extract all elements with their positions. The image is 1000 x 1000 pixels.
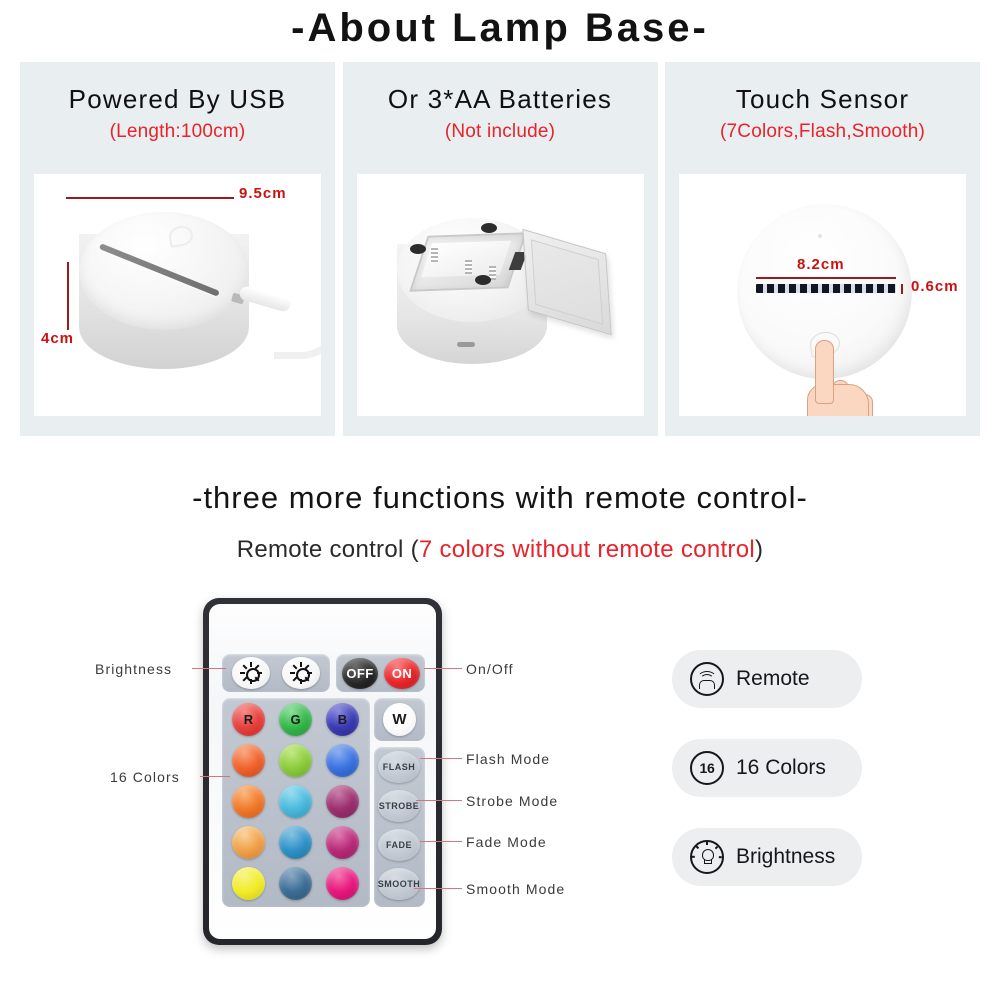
lamp-base-usb-illustration: 9.5cm 4cm — [34, 174, 321, 416]
color-button-r3c2[interactable] — [279, 785, 312, 818]
panel-3-title: Touch Sensor — [665, 84, 980, 115]
brightness-up-button[interactable] — [232, 657, 270, 689]
sixteen-badge-icon: 16 — [690, 751, 724, 785]
usb-port — [457, 342, 475, 347]
slot-width-line — [756, 277, 896, 279]
color-button-label: R — [244, 712, 253, 727]
leader-line-16-colors — [200, 776, 230, 777]
lamp-base-battery-illustration — [357, 174, 644, 416]
flash-mode-button[interactable]: FLASH — [378, 751, 420, 783]
fade-mode-button[interactable]: FADE — [378, 829, 420, 861]
remote-face: OFF ON W R G B — [209, 604, 436, 939]
color-button-white[interactable]: W — [383, 703, 416, 736]
color-button-r5c3[interactable] — [326, 867, 359, 900]
sun-icon — [241, 663, 261, 683]
annotation-flash-mode: Flash Mode — [466, 751, 550, 767]
color-button-r3c1[interactable] — [232, 785, 265, 818]
width-dimension-line — [66, 197, 234, 199]
height-dimension-line — [67, 262, 69, 330]
color-button-blue[interactable]: B — [326, 703, 359, 736]
panel-1-header: Powered By USB (Length:100cm) — [20, 84, 335, 143]
panel-3-header: Touch Sensor (7Colors,Flash,Smooth) — [665, 84, 980, 143]
panel-3-subtitle: (7Colors,Flash,Smooth) — [665, 121, 980, 143]
panel-touch-sensor: Touch Sensor (7Colors,Flash,Smooth) 8.2c… — [665, 62, 980, 436]
color-button-r2c2[interactable] — [279, 744, 312, 777]
battery-spring — [465, 260, 472, 274]
color-button-r4c2[interactable] — [279, 826, 312, 859]
color-button-r4c3[interactable] — [326, 826, 359, 859]
bulb-icon — [690, 840, 724, 874]
panel-1-title: Powered By USB — [20, 84, 335, 115]
section-2-subtitle-plain: Remote control ( — [237, 536, 419, 563]
color-button-green[interactable]: G — [279, 703, 312, 736]
panel-2-image — [357, 174, 644, 416]
annotation-16-colors: 16 Colors — [110, 769, 180, 785]
panel-1-image: 9.5cm 4cm — [34, 174, 321, 416]
leader-line-smooth-mode — [414, 888, 462, 889]
lamp-base-touch-illustration: 8.2cm 0.6cm — [679, 174, 966, 416]
feature-pill-brightness-label: Brightness — [736, 845, 835, 869]
feature-pill-remote[interactable]: Remote — [672, 650, 862, 708]
slot-thickness-tick — [901, 284, 903, 294]
panel-powered-by-usb: Powered By USB (Length:100cm) 9.5cm 4cm — [20, 62, 335, 436]
slot-width-label: 8.2cm — [797, 256, 845, 273]
feature-pill-list: Remote 16 16 Colors Brightness — [672, 650, 862, 917]
color-button-r5c2[interactable] — [279, 867, 312, 900]
smooth-mode-button[interactable]: SMOOTH — [378, 868, 420, 900]
color-button-r4c1[interactable] — [232, 826, 265, 859]
feature-pill-16-colors-label: 16 Colors — [736, 756, 826, 780]
leader-line-flash-mode — [420, 758, 462, 759]
slot-thickness-label: 0.6cm — [911, 278, 959, 295]
color-button-r3c3[interactable] — [326, 785, 359, 818]
annotation-brightness: Brightness — [95, 661, 172, 677]
strobe-mode-button[interactable]: STROBE — [378, 790, 420, 822]
leader-line-on-off — [424, 668, 462, 669]
feature-pill-brightness[interactable]: Brightness — [672, 828, 862, 886]
panel-2-header: Or 3*AA Batteries (Not include) — [343, 84, 658, 143]
leader-line-strobe-mode — [416, 800, 462, 801]
color-button-label: B — [338, 712, 347, 727]
fade-mode-label: FADE — [386, 840, 412, 850]
color-button-r2c1[interactable] — [232, 744, 265, 777]
panel-2-title: Or 3*AA Batteries — [343, 84, 658, 115]
section-2-subtitle: Remote control (7 colors without remote … — [0, 536, 1000, 564]
panel-aa-batteries: Or 3*AA Batteries (Not include) — [343, 62, 658, 436]
pointing-hand-illustration — [807, 340, 871, 416]
remote-control[interactable]: OFF ON W R G B — [203, 598, 442, 945]
panel-2-subtitle: (Not include) — [343, 121, 658, 143]
power-on-button[interactable]: ON — [384, 658, 420, 689]
leader-line-brightness — [192, 668, 226, 669]
annotation-on-off: On/Off — [466, 661, 514, 677]
white-button-label: W — [392, 711, 406, 728]
feature-pill-remote-label: Remote — [736, 667, 810, 691]
color-button-r5c1[interactable] — [232, 867, 265, 900]
strobe-mode-label: STROBE — [379, 801, 420, 811]
annotation-smooth-mode: Smooth Mode — [466, 881, 565, 897]
surface-marker — [818, 234, 822, 238]
index-finger — [815, 340, 834, 404]
product-infographic: -About Lamp Base- Powered By USB (Length… — [0, 0, 1000, 1000]
panel-row: Powered By USB (Length:100cm) 9.5cm 4cm — [20, 62, 980, 436]
color-button-r2c3[interactable] — [326, 744, 359, 777]
rubber-foot — [481, 223, 497, 233]
rubber-foot — [410, 244, 426, 254]
section-2-subtitle-highlight: 7 colors without remote control — [419, 536, 755, 563]
sun-icon — [291, 663, 311, 683]
section-2-title: -three more functions with remote contro… — [0, 480, 1000, 516]
remote-signal-icon — [690, 662, 724, 696]
height-dimension-label: 4cm — [41, 330, 74, 347]
section-2-subtitle-end: ) — [755, 536, 763, 563]
width-dimension-label: 9.5cm — [239, 185, 287, 202]
panel-3-image: 8.2cm 0.6cm — [679, 174, 966, 416]
color-button-red[interactable]: R — [232, 703, 265, 736]
rubber-foot — [475, 275, 491, 285]
page-title: -About Lamp Base- — [0, 6, 1000, 51]
battery-spring — [431, 248, 438, 262]
leader-line-fade-mode — [420, 841, 462, 842]
power-off-button[interactable]: OFF — [342, 658, 378, 689]
power-off-label: OFF — [346, 666, 373, 681]
annotation-fade-mode: Fade Mode — [466, 834, 547, 850]
flash-mode-label: FLASH — [383, 762, 416, 772]
led-slot-strip — [756, 284, 896, 293]
color-button-label: G — [290, 712, 300, 727]
feature-pill-16-colors[interactable]: 16 16 Colors — [672, 739, 862, 797]
power-on-label: ON — [392, 666, 412, 681]
brightness-down-button[interactable] — [282, 657, 320, 689]
usb-cord — [274, 302, 321, 359]
panel-1-subtitle: (Length:100cm) — [20, 121, 335, 143]
annotation-strobe-mode: Strobe Mode — [466, 793, 558, 809]
